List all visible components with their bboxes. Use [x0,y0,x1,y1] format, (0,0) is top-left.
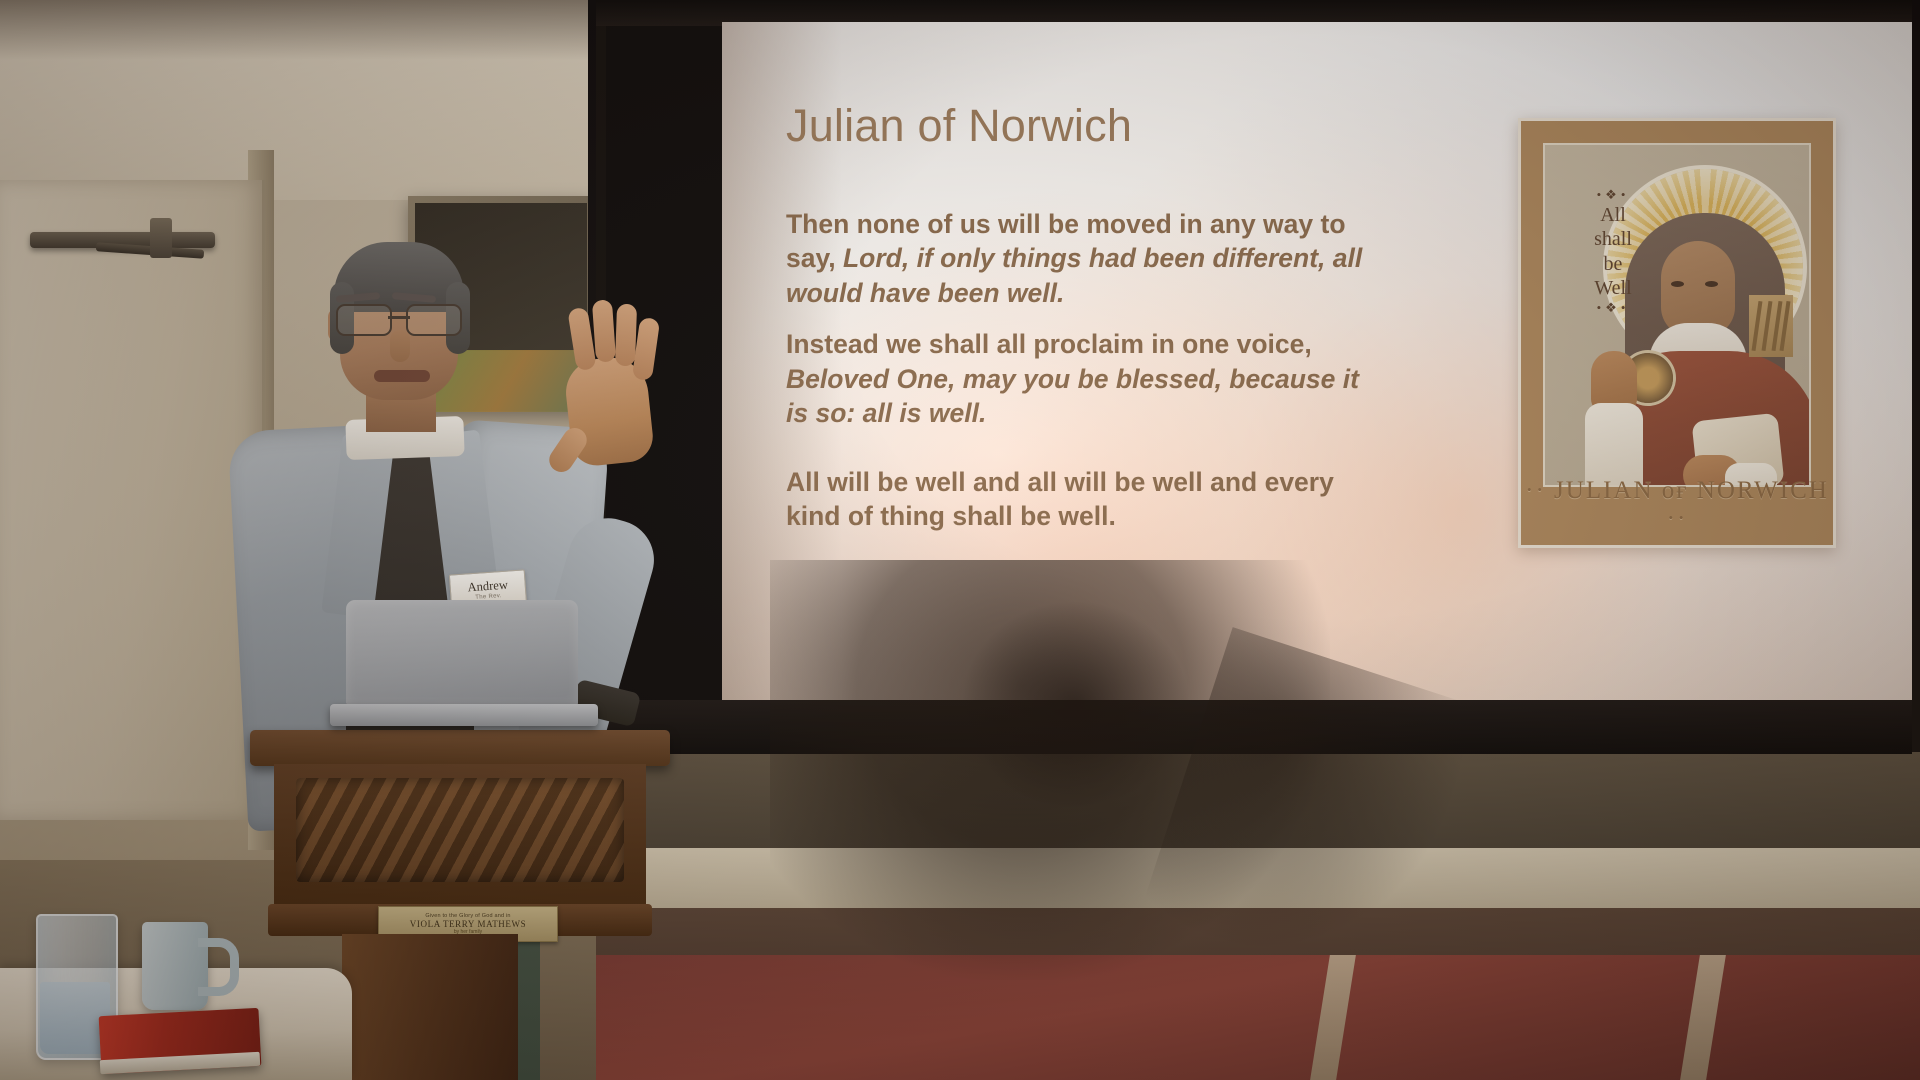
mug-handle [198,938,239,996]
slide-paragraph-1: Then none of us will be moved in any way… [786,207,1386,310]
ceiling-shadow [0,0,600,60]
podium-carving [296,778,624,882]
icon-inscription: •❖• All shall be Well •❖• [1567,187,1659,316]
icon-ornament-top: •❖• [1567,187,1659,203]
apple-logo-icon [449,644,475,674]
projected-slide: Julian of Norwich Then none of us will b… [722,22,1912,700]
speaker-mouth [374,370,430,382]
name-badge-text: Andrew [467,578,508,593]
slide-title: Julian of Norwich [786,100,1132,152]
icon-inscription-line-2: shall [1567,227,1659,251]
icon-inscription-line-1: All [1567,203,1659,227]
eyeglass-bridge [388,316,410,319]
laptop-base [330,704,598,726]
door-hinge [150,218,172,258]
presentation-photo: Julian of Norwich Then none of us will b… [0,0,1920,1080]
icon-ornament-bottom: •❖• [1567,300,1659,316]
slide-body: Then none of us will be moved in any way… [786,207,1386,551]
slide-paragraph-3: All will be well and all will be well an… [786,465,1386,534]
icon-tablet-motif [1749,295,1793,357]
figure-eye-left [1671,281,1684,287]
icon-inscription-line-3: be [1567,252,1659,276]
slide-paragraph-2: Instead we shall all proclaim in one voi… [786,327,1386,430]
icon-panel: •❖• All shall be Well •❖• [1543,143,1811,487]
eyeglass-lens-right [406,304,462,336]
eyeglass-lens-left [336,304,392,336]
room-door [0,180,265,820]
figure-eye-right [1705,281,1718,287]
speaker-finger-2 [592,299,616,362]
icon-caption: ·· JULIAN ᴏғ NORWICH ·· [1521,477,1833,533]
icon-inscription-line-4: Well [1567,276,1659,300]
figure-sleeve-upper [1585,403,1643,487]
julian-of-norwich-icon: •❖• All shall be Well •❖• ·· JULIAN ᴏғ N… [1518,118,1836,548]
plaque-line-2: VIOLA TERRY MATHEWS [410,919,526,929]
speaker-nose [390,330,410,362]
macbook-laptop[interactable] [330,600,598,740]
laptop-lid [346,600,578,706]
podium-column [342,934,518,1080]
speaker-head-shadow [960,600,1190,810]
